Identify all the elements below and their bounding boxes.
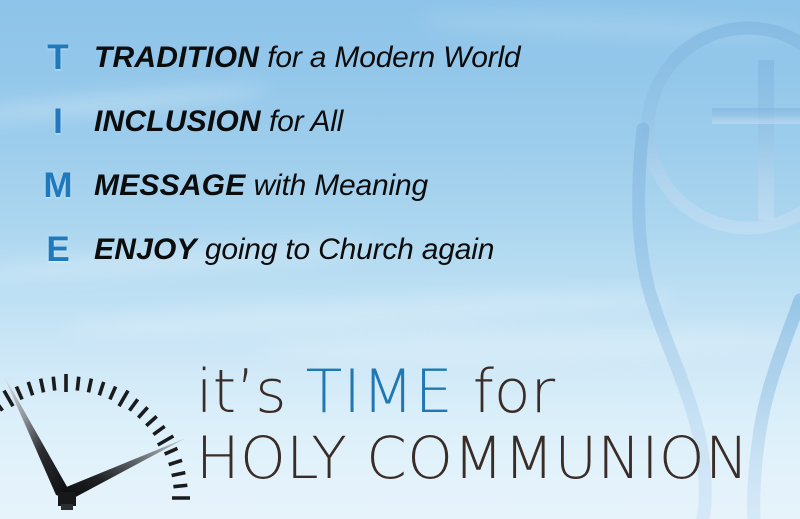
acronym-row: M MESSAGE with Meaning: [0, 164, 620, 228]
acronym-text: INCLUSION for All: [94, 100, 343, 144]
headline-line-2: HOLY COMMUNION: [196, 426, 800, 490]
acronym-row: E ENJOY going to Church again: [0, 228, 620, 292]
acronym-letter: T: [36, 36, 80, 80]
acronym-text: MESSAGE with Meaning: [94, 164, 428, 208]
acronym-letter: E: [36, 228, 80, 272]
acronym-light: with Meaning: [245, 169, 428, 202]
acronym-list: T TRADITION for a Modern World I INCLUSI…: [0, 36, 620, 292]
headline-for: for: [454, 357, 556, 427]
clock-center-pivot-shadow: [61, 504, 73, 510]
clock-hour-hand: [64, 438, 186, 500]
acronym-letter: M: [36, 164, 80, 208]
poster-canvas: T TRADITION for a Modern World I INCLUSI…: [0, 0, 800, 519]
clock-center-pivot: [58, 492, 76, 506]
clock-tick-marks: [0, 374, 190, 498]
acronym-strong: TRADITION: [94, 41, 259, 74]
acronym-letter: I: [36, 100, 80, 144]
acronym-row: T TRADITION for a Modern World: [0, 36, 620, 100]
acronym-light: going to Church again: [197, 233, 494, 266]
headline-line-1: it’s TIME for: [196, 360, 800, 424]
acronym-row: I INCLUSION for All: [0, 100, 620, 164]
headline-block: it’s TIME for HOLY COMMUNION: [196, 360, 800, 490]
acronym-strong: INCLUSION: [94, 105, 261, 138]
cloud-streak: [60, 284, 681, 342]
acronym-light: for All: [261, 105, 343, 138]
acronym-strong: MESSAGE: [94, 169, 245, 202]
acronym-text: TRADITION for a Modern World: [94, 36, 520, 80]
headline-its: it’s: [196, 357, 306, 427]
cross-icon: [712, 60, 800, 220]
clock-minute-hand: [2, 372, 70, 498]
acronym-light: for a Modern World: [259, 41, 520, 74]
acronym-strong: ENJOY: [94, 233, 197, 266]
acronym-text: ENJOY going to Church again: [94, 228, 494, 272]
headline-time-accent: TIME: [306, 357, 454, 427]
